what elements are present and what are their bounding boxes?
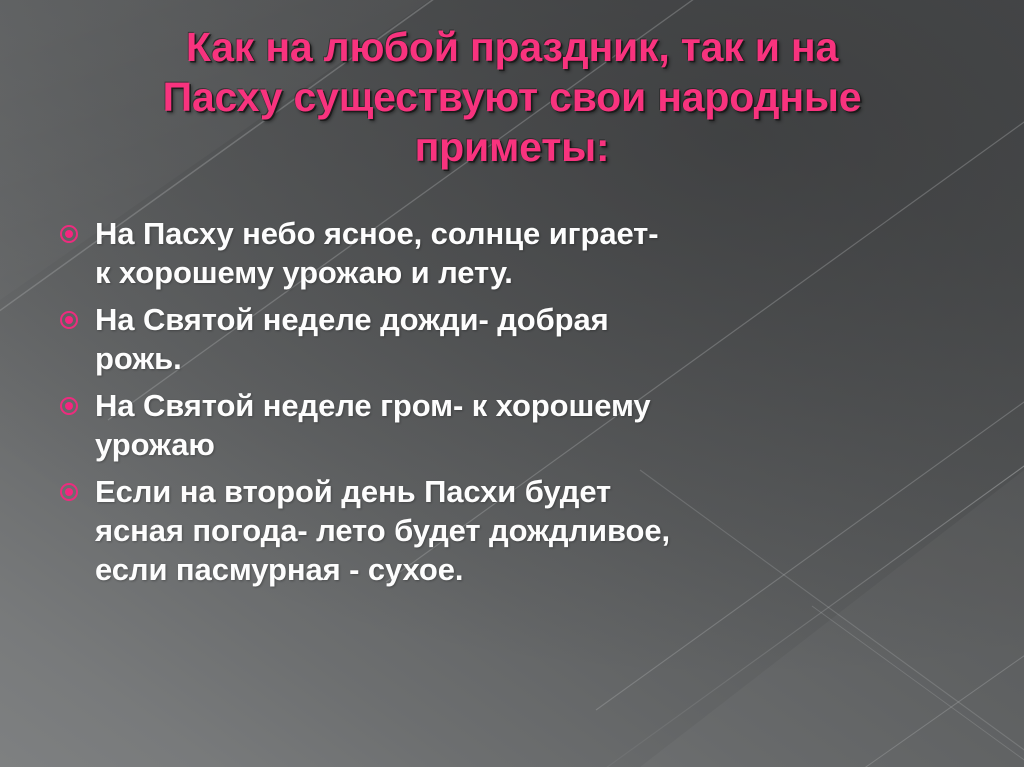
list-item-line: Если на второй день Пасхи будет: [95, 472, 1000, 511]
list-item-text: На Святой неделе дожди- добрая рожь.: [95, 300, 1000, 378]
list-item-text: Если на второй день Пасхи будет ясная по…: [95, 472, 1000, 589]
target-dot-bullet-icon: [60, 397, 78, 415]
list-item-line: На Пасху небо ясное, солнце играет-: [95, 214, 1000, 253]
list-item-line: урожаю: [95, 425, 1000, 464]
list-item: Если на второй день Пасхи будет ясная по…: [60, 472, 1000, 589]
presentation-slide: Как на любой праздник, так и на Пасху су…: [0, 0, 1024, 767]
list-item-line: На Святой неделе дожди- добрая: [95, 300, 1000, 339]
target-dot-bullet-icon: [60, 311, 78, 329]
list-item-line: если пасмурная - сухое.: [95, 550, 1000, 589]
list-item-text: На Святой неделе гром- к хорошему урожаю: [95, 386, 1000, 464]
bullet-list: На Пасху небо ясное, солнце играет- к хо…: [60, 214, 1000, 597]
list-item-line: к хорошему урожаю и лету.: [95, 253, 1000, 292]
list-item-line: На Святой неделе гром- к хорошему: [95, 386, 1000, 425]
slide-title-line-1: Как на любой праздник, так и на: [86, 22, 938, 72]
list-item-text: На Пасху небо ясное, солнце играет- к хо…: [95, 214, 1000, 292]
slide-title: Как на любой праздник, так и на Пасху су…: [86, 22, 938, 172]
slide-title-line-2: Пасху существуют свои народные: [86, 72, 938, 122]
target-dot-bullet-icon: [60, 483, 78, 501]
list-item: На Святой неделе дожди- добрая рожь.: [60, 300, 1000, 378]
list-item: На Святой неделе гром- к хорошему урожаю: [60, 386, 1000, 464]
list-item-line: ясная погода- лето будет дождливое,: [95, 511, 1000, 550]
target-dot-bullet-icon: [60, 225, 78, 243]
slide-title-line-3: приметы:: [86, 122, 938, 172]
list-item: На Пасху небо ясное, солнце играет- к хо…: [60, 214, 1000, 292]
list-item-line: рожь.: [95, 339, 1000, 378]
